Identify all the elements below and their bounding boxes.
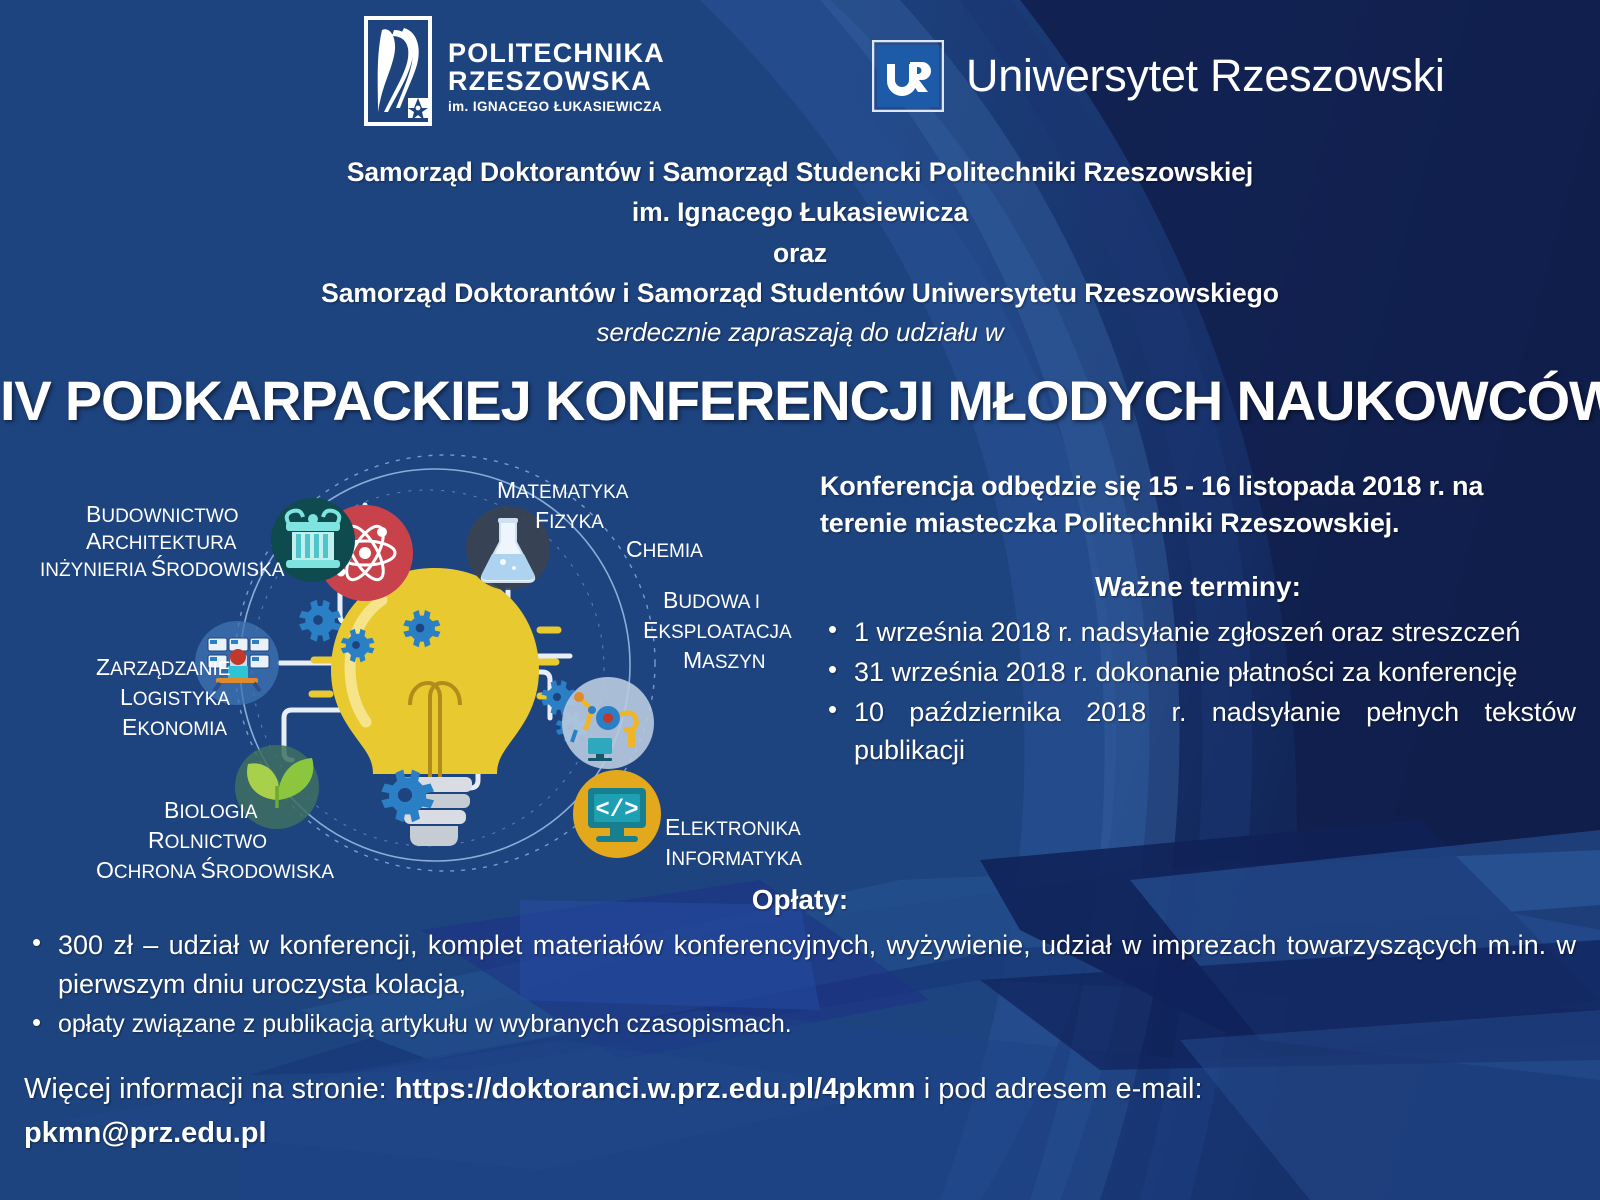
list-item: opłaty związane z publikacją artykułu w …	[24, 1006, 1576, 1042]
svg-text:</>: </>	[595, 797, 638, 824]
fees-heading: Opłaty:	[24, 884, 1576, 916]
label-budownictwo-1: BUDOWNICTWO	[86, 501, 239, 527]
label-elektronika-1: ELEKTRONIKA	[665, 814, 801, 840]
node-maszyny	[562, 677, 654, 769]
organisers-block: Samorząd Doktorantów i Samorząd Studenck…	[0, 152, 1600, 353]
node-elektronika: </>	[573, 770, 661, 858]
politechnika-rzeszowska-logo: POLITECHNIKA RZESZOWSKA im. IGNACEGO ŁUK…	[364, 16, 665, 126]
organiser-line-2: im. Ignacego Łukasiewicza	[0, 192, 1600, 232]
conference-details: Konferencja odbędzie się 15 - 16 listopa…	[820, 468, 1576, 772]
invitation-line: serdecznie zapraszają do udziału w	[0, 313, 1600, 353]
label-biologia-3: OCHRONA ŚRODOWISKA	[96, 856, 334, 880]
ur-logo-name: Uniwersytet Rzeszowski	[966, 50, 1445, 102]
label-maszyny-1: BUDOWA I	[663, 587, 760, 613]
page-title: IV PODKARPACKIEJ KONFERENCJI MŁODYCH NAU…	[0, 368, 1600, 433]
prz-logo-line3: im. IGNACEGO ŁUKASIEWICZA	[448, 100, 665, 114]
label-biologia-2: ROLNICTWO	[148, 827, 267, 853]
label-zarzadzanie-3: EKONOMIA	[122, 714, 227, 740]
uniwersytet-rzeszowski-logo: Uniwersytet Rzeszowski	[872, 40, 1445, 112]
label-elektronika-2: INFORMATYKA	[665, 844, 802, 870]
organiser-line-1: Samorząd Doktorantów i Samorząd Studenck…	[0, 152, 1600, 192]
list-item: 10 października 2018 r. nadsyłanie pełny…	[820, 693, 1576, 770]
label-fizyka: FIZYKA	[535, 507, 604, 533]
fees-block: Opłaty: 300 zł – udział w konferencji, k…	[24, 884, 1576, 1045]
disciplines-infographic: </> BUDOWNICTWO ARCHITEKTURA INŻYNIERIA …	[30, 450, 820, 880]
label-chemia: CHEMIA	[626, 536, 703, 562]
list-item: 300 zł – udział w konferencji, komplet m…	[24, 926, 1576, 1004]
conference-poster: POLITECHNIKA RZESZOWSKA im. IGNACEGO ŁUK…	[0, 0, 1600, 1200]
list-item: 1 września 2018 r. nadsyłanie zgłoszeń o…	[820, 613, 1576, 651]
contact-middle: i pod adresem e-mail:	[916, 1073, 1203, 1105]
logo-row: POLITECHNIKA RZESZOWSKA im. IGNACEGO ŁUK…	[0, 0, 1600, 145]
label-maszyny-3: MASZYN	[683, 647, 766, 673]
contact-prefix: Więcej informacji na stronie:	[24, 1073, 395, 1105]
label-budownictwo-2: ARCHITEKTURA	[86, 528, 237, 554]
important-dates-list: 1 września 2018 r. nadsyłanie zgłoszeń o…	[820, 613, 1576, 770]
organiser-line-3: oraz	[0, 233, 1600, 273]
label-budownictwo-3: INŻYNIERIA ŚRODOWISKA	[40, 554, 285, 581]
prz-logo-line1: POLITECHNIKA	[448, 40, 665, 68]
label-matematyka: MATEMATYKA	[497, 477, 629, 503]
fees-list: 300 zł – udział w konferencji, komplet m…	[24, 926, 1576, 1043]
label-maszyny-2: EKSPLOATACJA	[643, 617, 792, 643]
contact-block: Więcej informacji na stronie: https://do…	[24, 1068, 1576, 1155]
ur-monogram-icon	[872, 40, 944, 112]
conference-date-venue: Konferencja odbędzie się 15 - 16 listopa…	[820, 468, 1576, 543]
lightbulb-icon	[312, 568, 558, 846]
organiser-line-4: Samorząd Doktorantów i Samorząd Studentó…	[0, 273, 1600, 313]
list-item: 31 września 2018 r. dokonanie płatności …	[820, 653, 1576, 691]
prz-logo-line2: RZESZOWSKA	[448, 68, 665, 96]
prz-crest-icon	[364, 16, 432, 126]
contact-email-link[interactable]: pkmn@prz.edu.pl	[24, 1112, 1576, 1156]
important-dates-heading: Ważne terminy:	[820, 571, 1576, 603]
conference-website-link[interactable]: https://doktoranci.w.prz.edu.pl/4pkmn	[395, 1073, 916, 1105]
